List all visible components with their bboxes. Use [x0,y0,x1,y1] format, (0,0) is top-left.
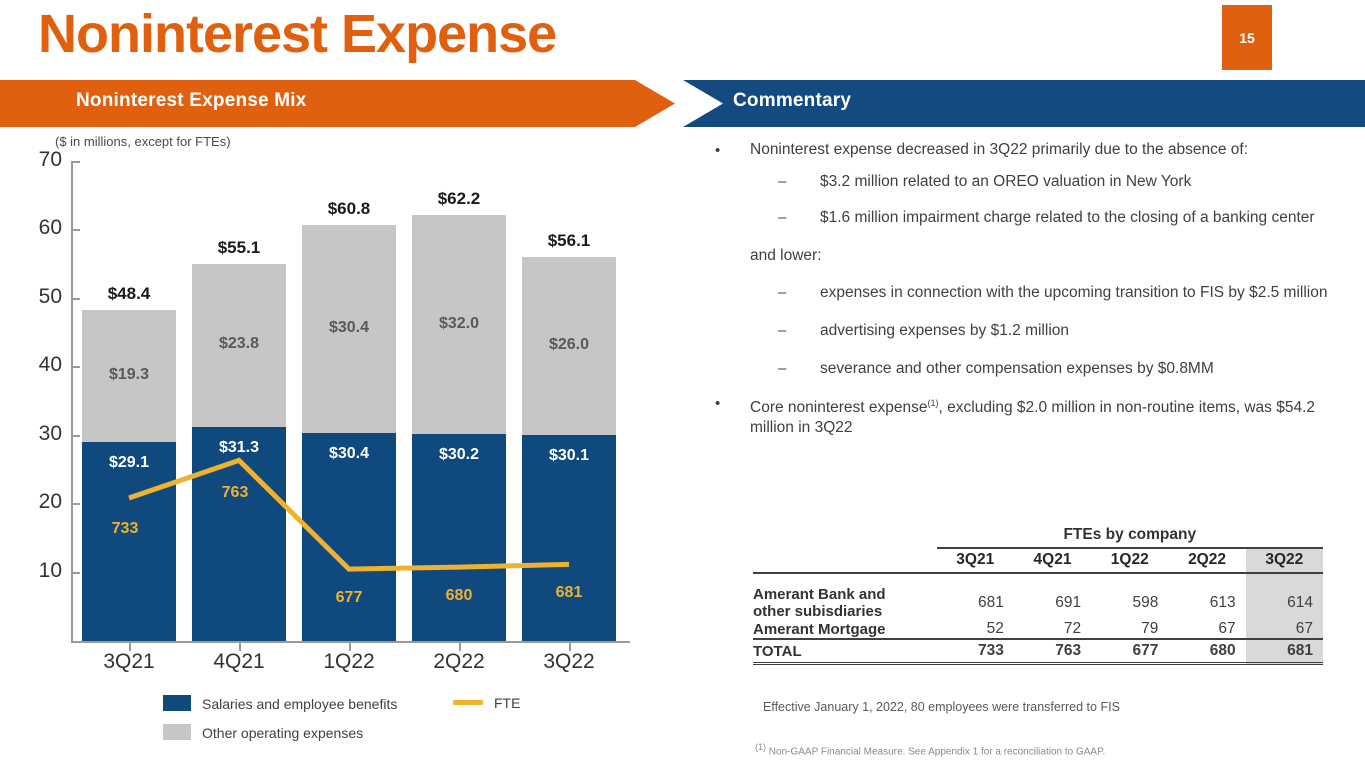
commentary-bullet-1: • Noninterest expense decreased in 3Q22 … [690,140,1350,160]
fte-point-label: 733 [75,520,175,538]
footnote-marker-icon: (1) [755,742,766,752]
table-header-row: 3Q214Q211Q222Q223Q22 [753,548,1323,573]
commentary-sub-2-2: – advertising expenses by $1.2 million [690,321,1350,341]
fte-point-label: 677 [299,589,399,607]
commentary-bullet-2-text-a: Core noninterest expense [750,399,928,416]
table-col-header-1q22: 1Q22 [1091,548,1168,573]
commentary-sub-2-1-text: expenses in connection with the upcoming… [820,284,1327,301]
commentary-panel: • Noninterest expense decreased in 3Q22 … [690,140,1350,440]
fte-point-label: 763 [185,484,285,502]
table-cell: 67 [1168,620,1245,639]
table-col-header-2q22: 2Q22 [1168,548,1245,573]
table-cell: 52 [937,620,1014,639]
table-col-header-3q22: 3Q22 [1246,548,1323,573]
table-cell: 67 [1246,620,1323,639]
commentary-sub-2-1: – expenses in connection with the upcomi… [690,283,1350,303]
legend-line-fte [453,700,483,705]
dash-icon: – [778,283,786,303]
commentary-sub-1-2: – $1.6 million impairment charge related… [690,208,1350,228]
table-total-cell: 733 [937,639,1014,664]
footnote-marker: (1) [928,398,939,408]
table-row-label: Amerant Mortgage [753,620,937,639]
fte-point-label: 680 [409,587,509,605]
x-tick-label-1q22: 1Q22 [294,650,404,674]
table-total-cell: 677 [1091,639,1168,664]
commentary-sub-2-2-text: advertising expenses by $1.2 million [820,322,1069,339]
table-title: FTEs by company [937,526,1323,548]
table-row-label: Amerant Bank andother subisdiaries [753,586,937,620]
bullet-dot-icon: • [715,141,720,161]
legend-label-salaries: Salaries and employee benefits [202,696,397,712]
dash-icon: – [778,359,786,379]
dash-icon: – [778,208,786,228]
bullet-dot-icon: • [715,394,720,414]
table-note: Effective January 1, 2022, 80 employees … [763,700,1120,714]
x-tick-label-3q21: 3Q21 [74,650,184,674]
commentary-sub-1-1: – $3.2 million related to an OREO valuat… [690,172,1350,192]
noninterest-expense-chart: 70605040302010 $19.3$29.1$48.4$23.8$31.3… [0,0,680,690]
table-spacer-row [753,573,1323,586]
table-total-cell: 681 [1246,639,1323,664]
legend-label-fte: FTE [494,695,520,711]
dash-icon: – [778,172,786,192]
table-col-header-4q21: 4Q21 [1014,548,1091,573]
x-tick-label-2q22: 2Q22 [404,650,514,674]
table-col-header-3q21: 3Q21 [937,548,1014,573]
page-footnote: (1) Non-GAAP Financial Measure. See Appe… [755,742,1105,757]
fte-polyline [129,460,569,569]
dash-icon: – [778,321,786,341]
commentary-bullet-2: • Core noninterest expense(1), excluding… [690,393,1350,438]
commentary-sub-2-3: – severance and other compensation expen… [690,359,1350,379]
legend-label-other: Other operating expenses [202,725,363,741]
commentary-and-lower: and lower: [690,246,1350,266]
ftes-by-company-table: FTEs by company 3Q214Q211Q222Q223Q22 Ame… [753,526,1323,665]
commentary-sub-2-3-text: severance and other compensation expense… [820,360,1214,377]
table-total-cell: 680 [1168,639,1245,664]
fte-point-label: 681 [519,584,619,602]
table-cell: 614 [1246,586,1323,620]
commentary-sub-1-1-text: $3.2 million related to an OREO valuatio… [820,173,1191,190]
table-total-row: TOTAL733763677680681 [753,639,1323,664]
page-number-badge: 15 [1222,5,1272,70]
table-cell: 598 [1091,586,1168,620]
footnote-text: Non-GAAP Financial Measure. See Appendix… [769,746,1105,757]
commentary-bullet-1-text: Noninterest expense decreased in 3Q22 pr… [750,141,1248,158]
legend-swatch-salaries [163,695,191,711]
table-row: Amerant Mortgage5272796767 [753,620,1323,639]
legend-swatch-other [163,724,191,740]
table-cell: 691 [1014,586,1091,620]
table-total-cell: 763 [1014,639,1091,664]
commentary-sub-1-2-text: $1.6 million impairment charge related t… [820,209,1315,226]
table-cell: 72 [1014,620,1091,639]
x-tick-label-4q21: 4Q21 [184,650,294,674]
table-cell: 681 [937,586,1014,620]
x-tick-label-3q22: 3Q22 [514,650,624,674]
table-row: Amerant Bank andother subisdiaries681691… [753,586,1323,620]
table-title-row: FTEs by company [753,526,1323,548]
section-banner-commentary-label: Commentary [733,90,851,112]
table-cell: 79 [1091,620,1168,639]
table-cell: 613 [1168,586,1245,620]
table-total-label: TOTAL [753,639,937,664]
